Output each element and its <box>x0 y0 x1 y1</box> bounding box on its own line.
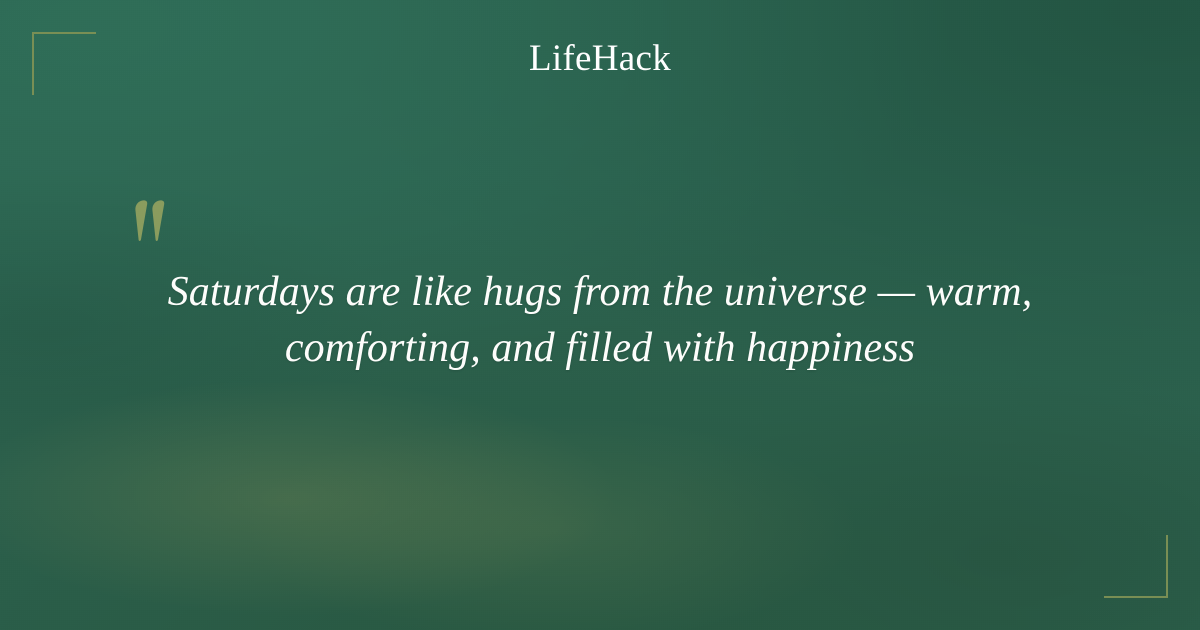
double-quote-icon <box>128 198 180 246</box>
quote-block: Saturdays are like hugs from the univers… <box>0 265 1200 377</box>
brand-logo-text: LifeHack <box>529 38 671 79</box>
brand-logo: LifeHack <box>0 40 1200 77</box>
quote-text: Saturdays are like hugs from the univers… <box>120 265 1080 377</box>
corner-bracket-bottom-right-icon <box>1104 535 1168 598</box>
quote-card: LifeHack Saturdays are like hugs from th… <box>0 0 1200 630</box>
